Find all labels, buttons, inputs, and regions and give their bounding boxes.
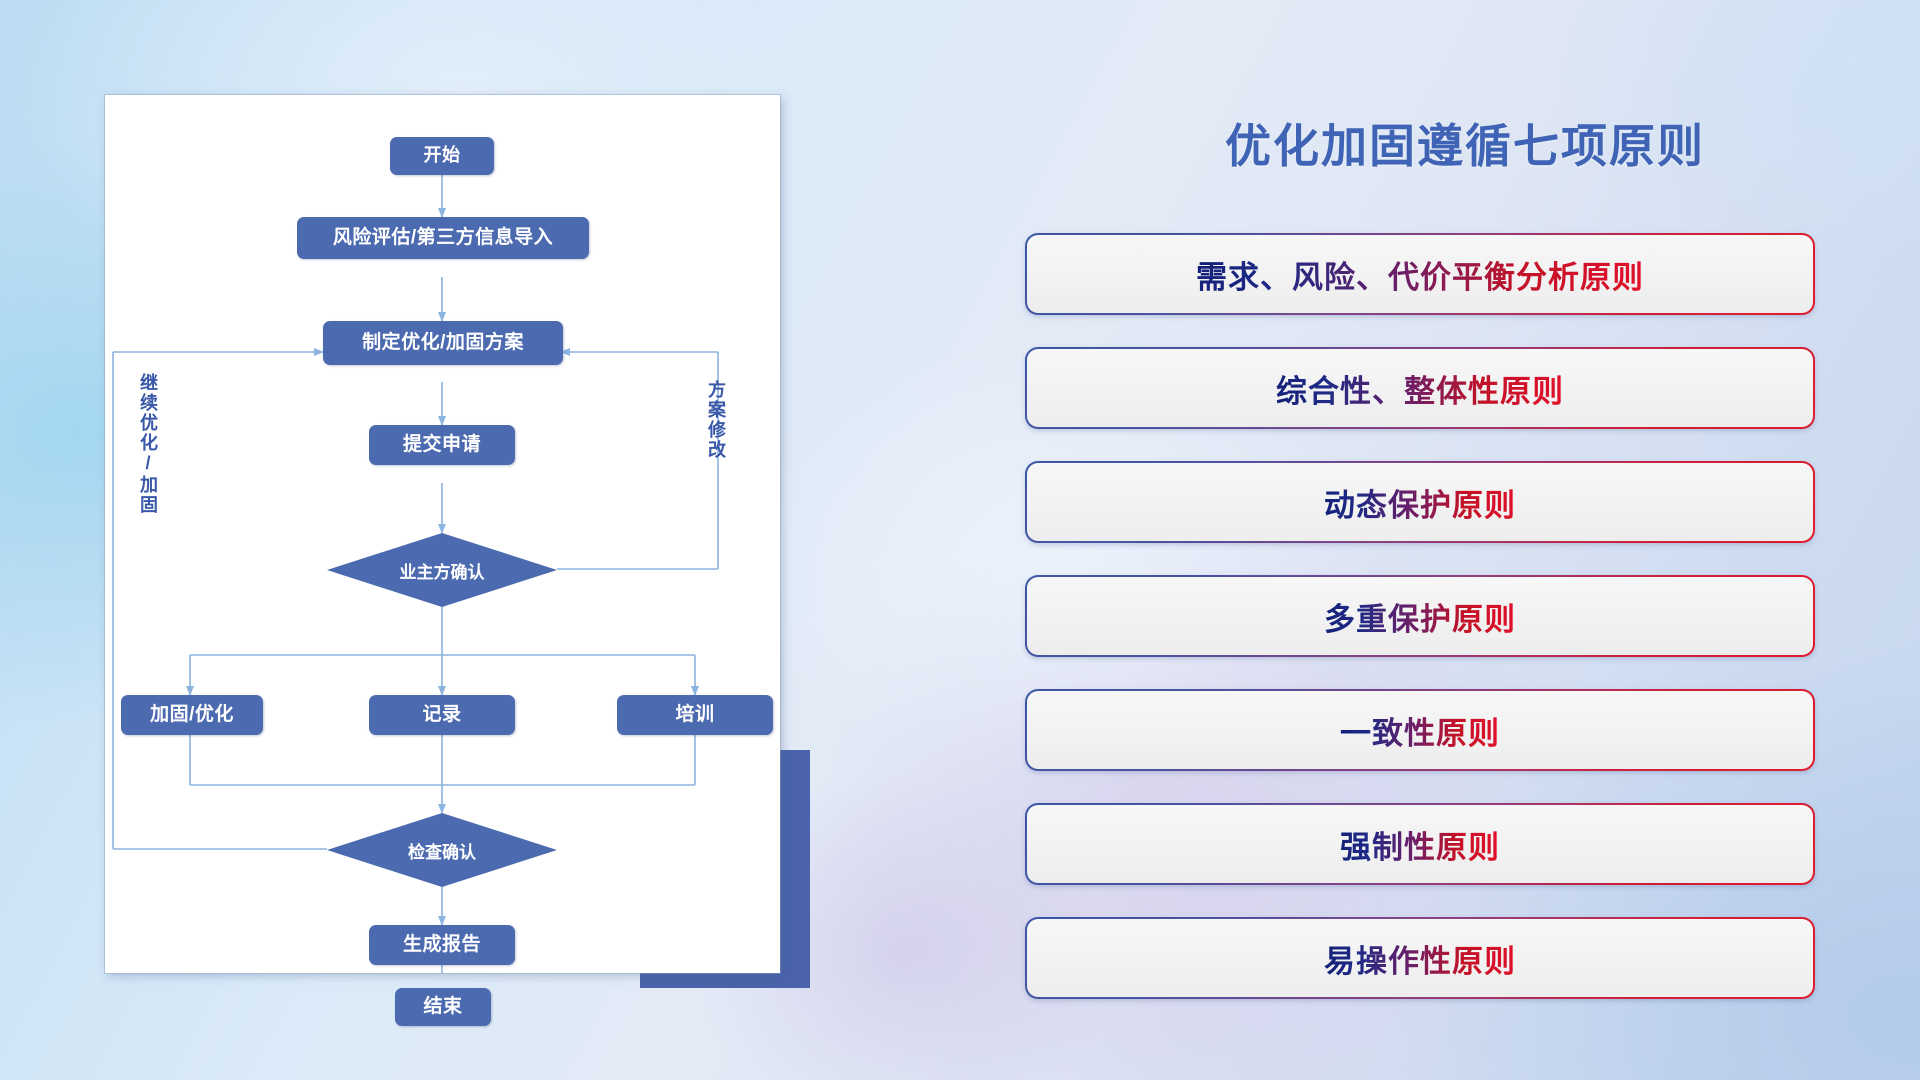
principle-card-7-label: 易操作性原则 [1324,936,1516,981]
node-training[interactable]: 培训 [617,695,773,735]
node-record[interactable]: 记录 [369,695,515,735]
principle-card-4[interactable]: 多重保护原则 [1025,575,1815,657]
decision-check-confirm-shape [327,813,557,887]
principle-card-3-body: 动态保护原则 [1027,463,1813,541]
node-reinforce-optimize[interactable]: 加固/优化 [121,695,263,735]
principles-list: 需求、风险、代价平衡分析原则 综合性、整体性原则 动态保护原则 多重保护原则 一… [1025,233,1815,1031]
principle-card-6[interactable]: 强制性原则 [1025,803,1815,885]
principle-card-1[interactable]: 需求、风险、代价平衡分析原则 [1025,233,1815,315]
edge-label-plan-revision: 方案修改 [703,380,729,460]
principle-card-2-body: 综合性、整体性原则 [1027,349,1813,427]
principle-card-3[interactable]: 动态保护原则 [1025,461,1815,543]
principle-card-4-body: 多重保护原则 [1027,577,1813,655]
principle-card-2-label: 综合性、整体性原则 [1276,366,1564,411]
panel-title: 优化加固遵循七项原则 [1010,110,1920,176]
principle-card-4-label: 多重保护原则 [1324,594,1516,639]
principle-card-6-body: 强制性原则 [1027,805,1813,883]
principle-card-1-body: 需求、风险、代价平衡分析原则 [1027,235,1813,313]
decision-owner-confirm-shape [327,533,557,607]
principles-panel: 优化加固遵循七项原则 需求、风险、代价平衡分析原则 综合性、整体性原则 动态保护… [1010,0,1920,1080]
principle-card-7-body: 易操作性原则 [1027,919,1813,997]
edge-label-continue-optimize: 继续优化/加固 [135,373,161,515]
principle-card-5[interactable]: 一致性原则 [1025,689,1815,771]
node-generate-report[interactable]: 生成报告 [369,925,515,965]
principle-card-1-label: 需求、风险、代价平衡分析原则 [1196,252,1644,297]
node-end[interactable]: 结束 [395,988,491,1026]
principle-card-5-label: 一致性原则 [1340,708,1500,753]
principle-card-6-label: 强制性原则 [1340,822,1500,867]
node-risk-assessment[interactable]: 风险评估/第三方信息导入 [297,217,589,259]
node-submit-application[interactable]: 提交申请 [369,425,515,465]
node-start[interactable]: 开始 [390,137,494,175]
flowchart-canvas: 业主方确认 检查确认 开始 风险评估/第三方信息导入 制定优化/加固方案 提交申… [105,95,780,973]
principle-card-5-body: 一致性原则 [1027,691,1813,769]
node-make-plan[interactable]: 制定优化/加固方案 [323,321,563,365]
flowchart-card: 业主方确认 检查确认 开始 风险评估/第三方信息导入 制定优化/加固方案 提交申… [105,95,780,973]
principle-card-7[interactable]: 易操作性原则 [1025,917,1815,999]
principle-card-3-label: 动态保护原则 [1324,480,1516,525]
principle-card-2[interactable]: 综合性、整体性原则 [1025,347,1815,429]
